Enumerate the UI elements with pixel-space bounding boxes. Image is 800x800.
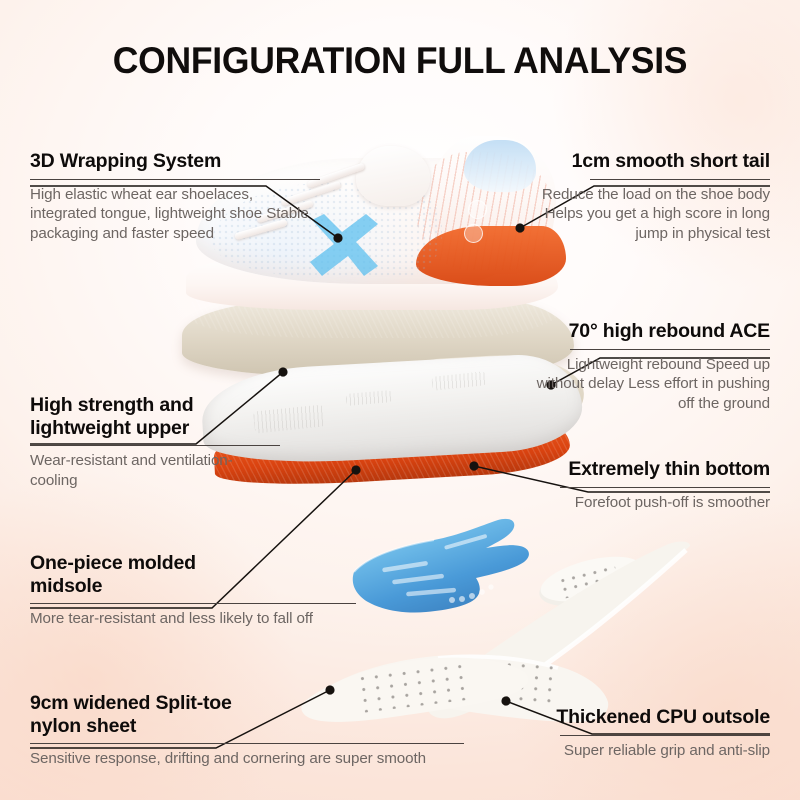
annotation-high-strength-lightweight-upper: High strength and lightweight upper Wear… bbox=[30, 394, 280, 490]
shoe-badge-icon bbox=[468, 200, 487, 219]
annotation-body: Wear-resistant and ventilation-cooling bbox=[30, 451, 280, 490]
annotation-heading: 70° high rebound ACE bbox=[518, 320, 770, 343]
annotation-heading: One-piece molded midsole bbox=[30, 552, 260, 597]
annotation-rule bbox=[590, 179, 770, 180]
annotation-body: Super reliable grip and anti-slip bbox=[518, 741, 770, 760]
annotation-70-high-rebound-ace: 70° high rebound ACE Lightweight rebound… bbox=[518, 320, 770, 413]
annotation-3d-wrapping-system: 3D Wrapping System High elastic wheat ea… bbox=[30, 150, 320, 243]
annotation-body: Sensitive response, drifting and corneri… bbox=[30, 749, 470, 768]
annotation-body: High elastic wheat ear shoelaces, integr… bbox=[30, 185, 320, 243]
page-title: CONFIGURATION FULL ANALYSIS bbox=[16, 40, 784, 82]
cpu-outsole-midpiece-image bbox=[300, 648, 530, 740]
shoe-tongue bbox=[356, 146, 430, 206]
annotation-rule bbox=[30, 743, 464, 744]
annotation-heading: Thickened CPU outsole bbox=[518, 706, 770, 729]
annotation-rule bbox=[30, 179, 320, 180]
annotation-1cm-smooth-short-tail: 1cm smooth short tail Reduce the load on… bbox=[520, 150, 770, 243]
annotation-heading: 9cm widened Split-toe nylon sheet bbox=[30, 692, 260, 737]
annotation-heading: 1cm smooth short tail bbox=[520, 150, 770, 173]
infographic-poster: CONFIGURATION FULL ANALYSIS 3D Wrapping … bbox=[0, 0, 800, 800]
annotation-heading: 3D Wrapping System bbox=[30, 150, 320, 173]
annotation-rule bbox=[30, 603, 356, 604]
annotation-body: Reduce the load on the shoe body Helps y… bbox=[520, 185, 770, 243]
shoe-badge-icon bbox=[464, 224, 483, 243]
annotation-body: Forefoot push-off is smoother bbox=[518, 493, 770, 512]
annotation-rule bbox=[560, 735, 770, 736]
annotation-heading: High strength and lightweight upper bbox=[30, 394, 280, 439]
annotation-one-piece-molded-midsole: One-piece molded midsole More tear-resis… bbox=[30, 552, 260, 629]
annotation-body: More tear-resistant and less likely to f… bbox=[30, 609, 360, 628]
annotation-thickened-cpu-outsole: Thickened CPU outsole Super reliable gri… bbox=[518, 706, 770, 760]
annotation-body: Lightweight rebound Speed up without del… bbox=[518, 355, 770, 413]
annotation-extremely-thin-bottom: Extremely thin bottom Forefoot push-off … bbox=[518, 458, 770, 512]
annotation-split-toe-nylon-sheet: 9cm widened Split-toe nylon sheet Sensit… bbox=[30, 692, 260, 769]
annotation-rule bbox=[570, 349, 770, 350]
annotation-rule bbox=[30, 445, 280, 446]
annotation-rule bbox=[560, 487, 770, 488]
annotation-heading: Extremely thin bottom bbox=[518, 458, 770, 481]
